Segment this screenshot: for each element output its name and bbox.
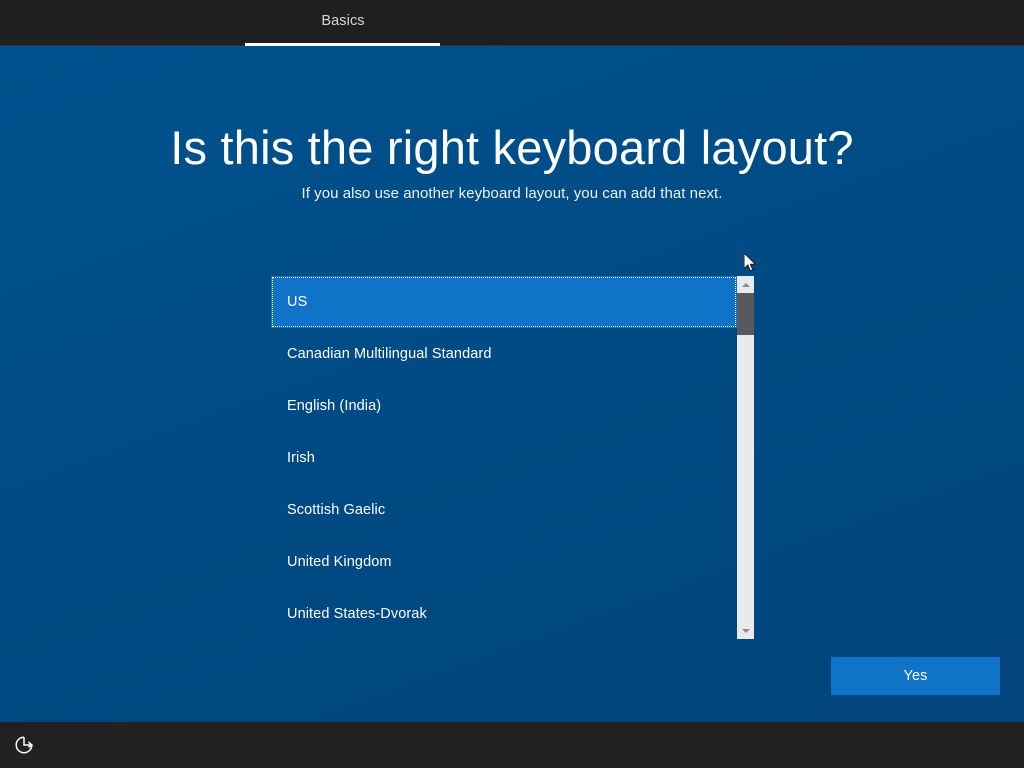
list-item[interactable]: Scottish Gaelic: [271, 484, 737, 536]
main-content: Is this the right keyboard layout? If yo…: [0, 46, 1024, 722]
tab-basics-label: Basics: [321, 14, 364, 33]
ease-of-access-icon: [13, 734, 35, 756]
confirm-yes-button[interactable]: Yes: [831, 657, 1000, 695]
listbox-scrollbar[interactable]: [737, 276, 754, 639]
tab-basics[interactable]: Basics: [245, 0, 441, 46]
list-item[interactable]: United States-Dvorak: [271, 588, 737, 640]
page-subtitle: If you also use another keyboard layout,…: [0, 185, 1024, 202]
scrollbar-down-button[interactable]: [737, 622, 754, 639]
header-bar: Basics: [0, 0, 1024, 46]
keyboard-layout-listbox[interactable]: US Canadian Multilingual Standard Englis…: [271, 276, 754, 679]
list-item-label: United Kingdom: [287, 554, 392, 570]
list-item-label: Irish: [287, 450, 315, 466]
list-item-label: US: [287, 294, 307, 310]
list-item[interactable]: Irish: [271, 432, 737, 484]
list-item[interactable]: US: [271, 276, 737, 328]
footer-bar: [0, 722, 1024, 768]
list-item[interactable]: English (India): [271, 380, 737, 432]
page-title: Is this the right keyboard layout?: [0, 122, 1024, 174]
list-item[interactable]: Canadian Multilingual Standard: [271, 328, 737, 380]
list-item-label: Scottish Gaelic: [287, 502, 385, 518]
chevron-down-icon: [742, 629, 750, 633]
oobe-screen: Basics Is this the right keyboard layout…: [0, 0, 1024, 768]
scrollbar-thumb[interactable]: [737, 293, 754, 335]
list-item-label: English (India): [287, 398, 381, 414]
list-item[interactable]: United Kingdom: [271, 536, 737, 588]
scrollbar-track[interactable]: [737, 335, 754, 622]
list-item-label: United States-Dvorak: [287, 606, 427, 622]
list-item-label: Canadian Multilingual Standard: [287, 346, 492, 362]
chevron-up-icon: [742, 283, 750, 287]
keyboard-layout-options[interactable]: US Canadian Multilingual Standard Englis…: [271, 276, 737, 679]
confirm-yes-label: Yes: [904, 668, 928, 684]
ease-of-access-button[interactable]: [10, 731, 38, 759]
scrollbar-up-button[interactable]: [737, 276, 754, 293]
